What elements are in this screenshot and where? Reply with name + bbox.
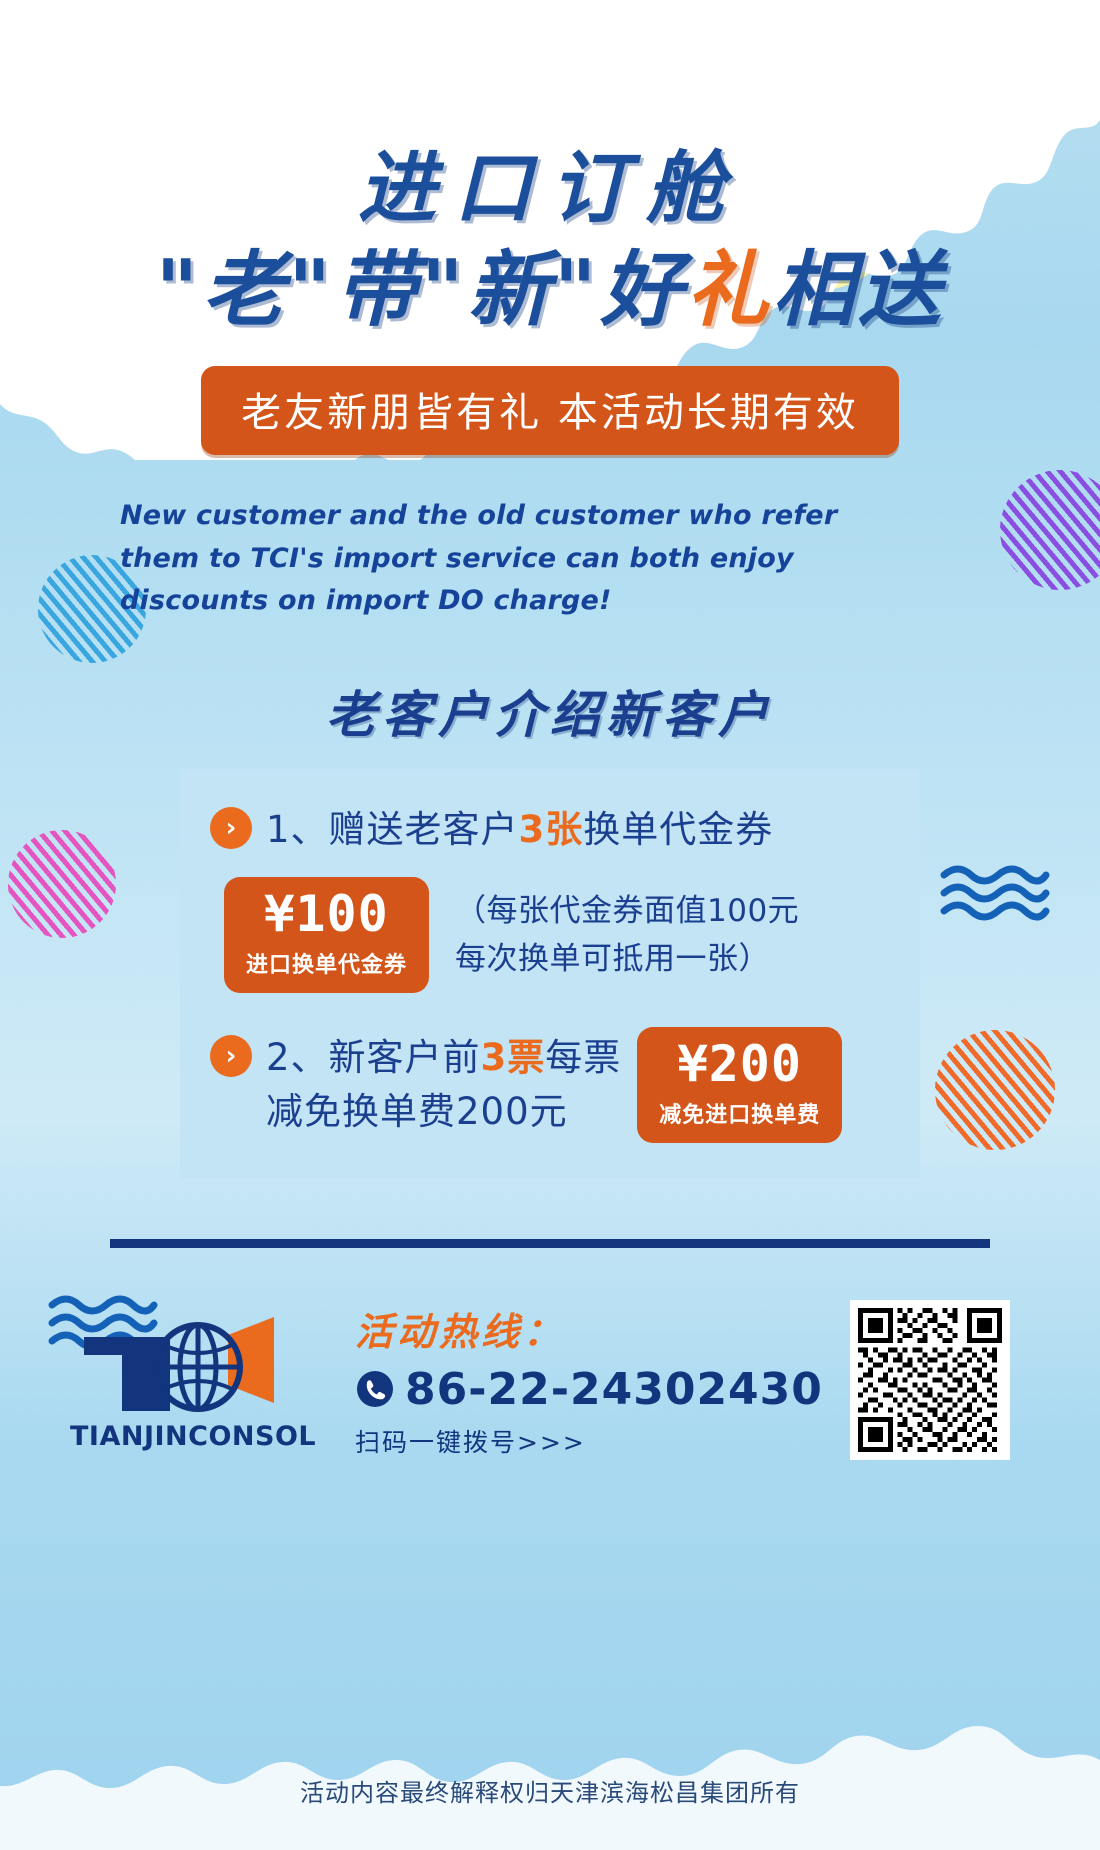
company-logo: TIANJINCONSOL — [70, 1307, 315, 1452]
title-line2-pre: "老"带"新"好 — [156, 243, 687, 338]
hotline-label: 活动热线： — [355, 1301, 850, 1356]
voucher-badge-200-caption: 减免进口换单费 — [659, 1097, 820, 1129]
subtitle-banner: 老友新朋皆有礼 本活动长期有效 — [201, 366, 899, 455]
voucher-badge-200: ¥200 减免进口换单费 — [637, 1027, 842, 1143]
voucher-badge-100: ¥100 进口换单代金券 — [224, 877, 429, 993]
item2-line1: 2、新客户前3票每票 — [266, 1031, 621, 1085]
logo-mark-icon — [78, 1307, 308, 1417]
title-line2-highlight: 礼 — [686, 243, 772, 338]
voucher-badge-200-amount: ¥200 — [659, 1039, 820, 1089]
offer-item-2: › 2、新客户前3票每票 减免换单费200元 ¥200 减免进口换单费 — [210, 1027, 890, 1143]
hotline-number: 86-22-24302430 — [405, 1364, 823, 1415]
chevron-right-icon-1: › — [210, 807, 252, 849]
voucher-badge-100-amount: ¥100 — [246, 889, 407, 939]
offer-item-1: › 1、赠送老客户3张换单代金券 — [210, 803, 890, 857]
company-name: TIANJINCONSOL — [70, 1421, 315, 1452]
item2-text-post: 每票 — [545, 1036, 621, 1079]
offer-item-1-text: 1、赠送老客户3张换单代金券 — [266, 803, 773, 857]
item2-text-pre: 2、新客户前 — [266, 1036, 481, 1079]
section-heading: 老客户介绍新客户 — [0, 675, 1100, 747]
qr-code[interactable] — [850, 1300, 1010, 1460]
voucher-badge-100-caption: 进口换单代金券 — [246, 947, 407, 979]
offer-item-2-left: › 2、新客户前3票每票 减免换单费200元 — [210, 1031, 621, 1138]
item1-text-pre: 1、赠送老客户 — [266, 808, 519, 851]
contact-block: 活动热线： 86-22-24302430 扫码一键拨号>>> — [355, 1301, 850, 1459]
page-title-line1: 进口订舱 — [0, 150, 1100, 228]
item1-text-post: 换单代金券 — [583, 808, 773, 851]
footer: TIANJINCONSOL 活动热线： 86-22-24302430 扫码一键拨… — [70, 1300, 1100, 1460]
item2-line2: 减免换单费200元 — [266, 1085, 621, 1139]
voucher-row-1: ¥100 进口换单代金券 （每张代金券面值100元 每次换单可抵用一张） — [210, 877, 890, 993]
disclaimer-text: 活动内容最终解释权归天津滨海松昌集团所有 — [0, 1773, 1100, 1808]
voucher-note-1-line2: 每次换单可抵用一张） — [455, 935, 799, 983]
voucher-note-1-line1: （每张代金券面值100元 — [455, 887, 799, 935]
footer-divider — [110, 1239, 990, 1248]
page-title-line2: "老"带"新"好礼相送 — [0, 250, 1100, 332]
hotline-number-row[interactable]: 86-22-24302430 — [355, 1364, 850, 1415]
offer-content-box: › 1、赠送老客户3张换单代金券 ¥100 进口换单代金券 （每张代金券面值10… — [180, 769, 920, 1179]
subtitle-banner-wrap: 老友新朋皆有礼 本活动长期有效 — [0, 366, 1100, 455]
title-block: 进口订舱 "老"带"新"好礼相送 — [0, 0, 1100, 332]
item1-quantity: 3张 — [519, 808, 584, 851]
scan-tip: 扫码一键拨号>>> — [355, 1423, 850, 1459]
chevron-right-icon-2: › — [210, 1035, 252, 1077]
title-line2-post: 相送 — [772, 243, 944, 338]
poster-page: 进口订舱 "老"带"新"好礼相送 老友新朋皆有礼 本活动长期有效 New cus… — [0, 0, 1100, 1850]
phone-icon — [355, 1369, 395, 1409]
english-description: New customer and the old customer who re… — [120, 495, 860, 623]
voucher-note-1: （每张代金券面值100元 每次换单可抵用一张） — [455, 887, 799, 983]
offer-item-2-text: 2、新客户前3票每票 减免换单费200元 — [266, 1031, 621, 1138]
item2-quantity: 3票 — [481, 1036, 546, 1079]
